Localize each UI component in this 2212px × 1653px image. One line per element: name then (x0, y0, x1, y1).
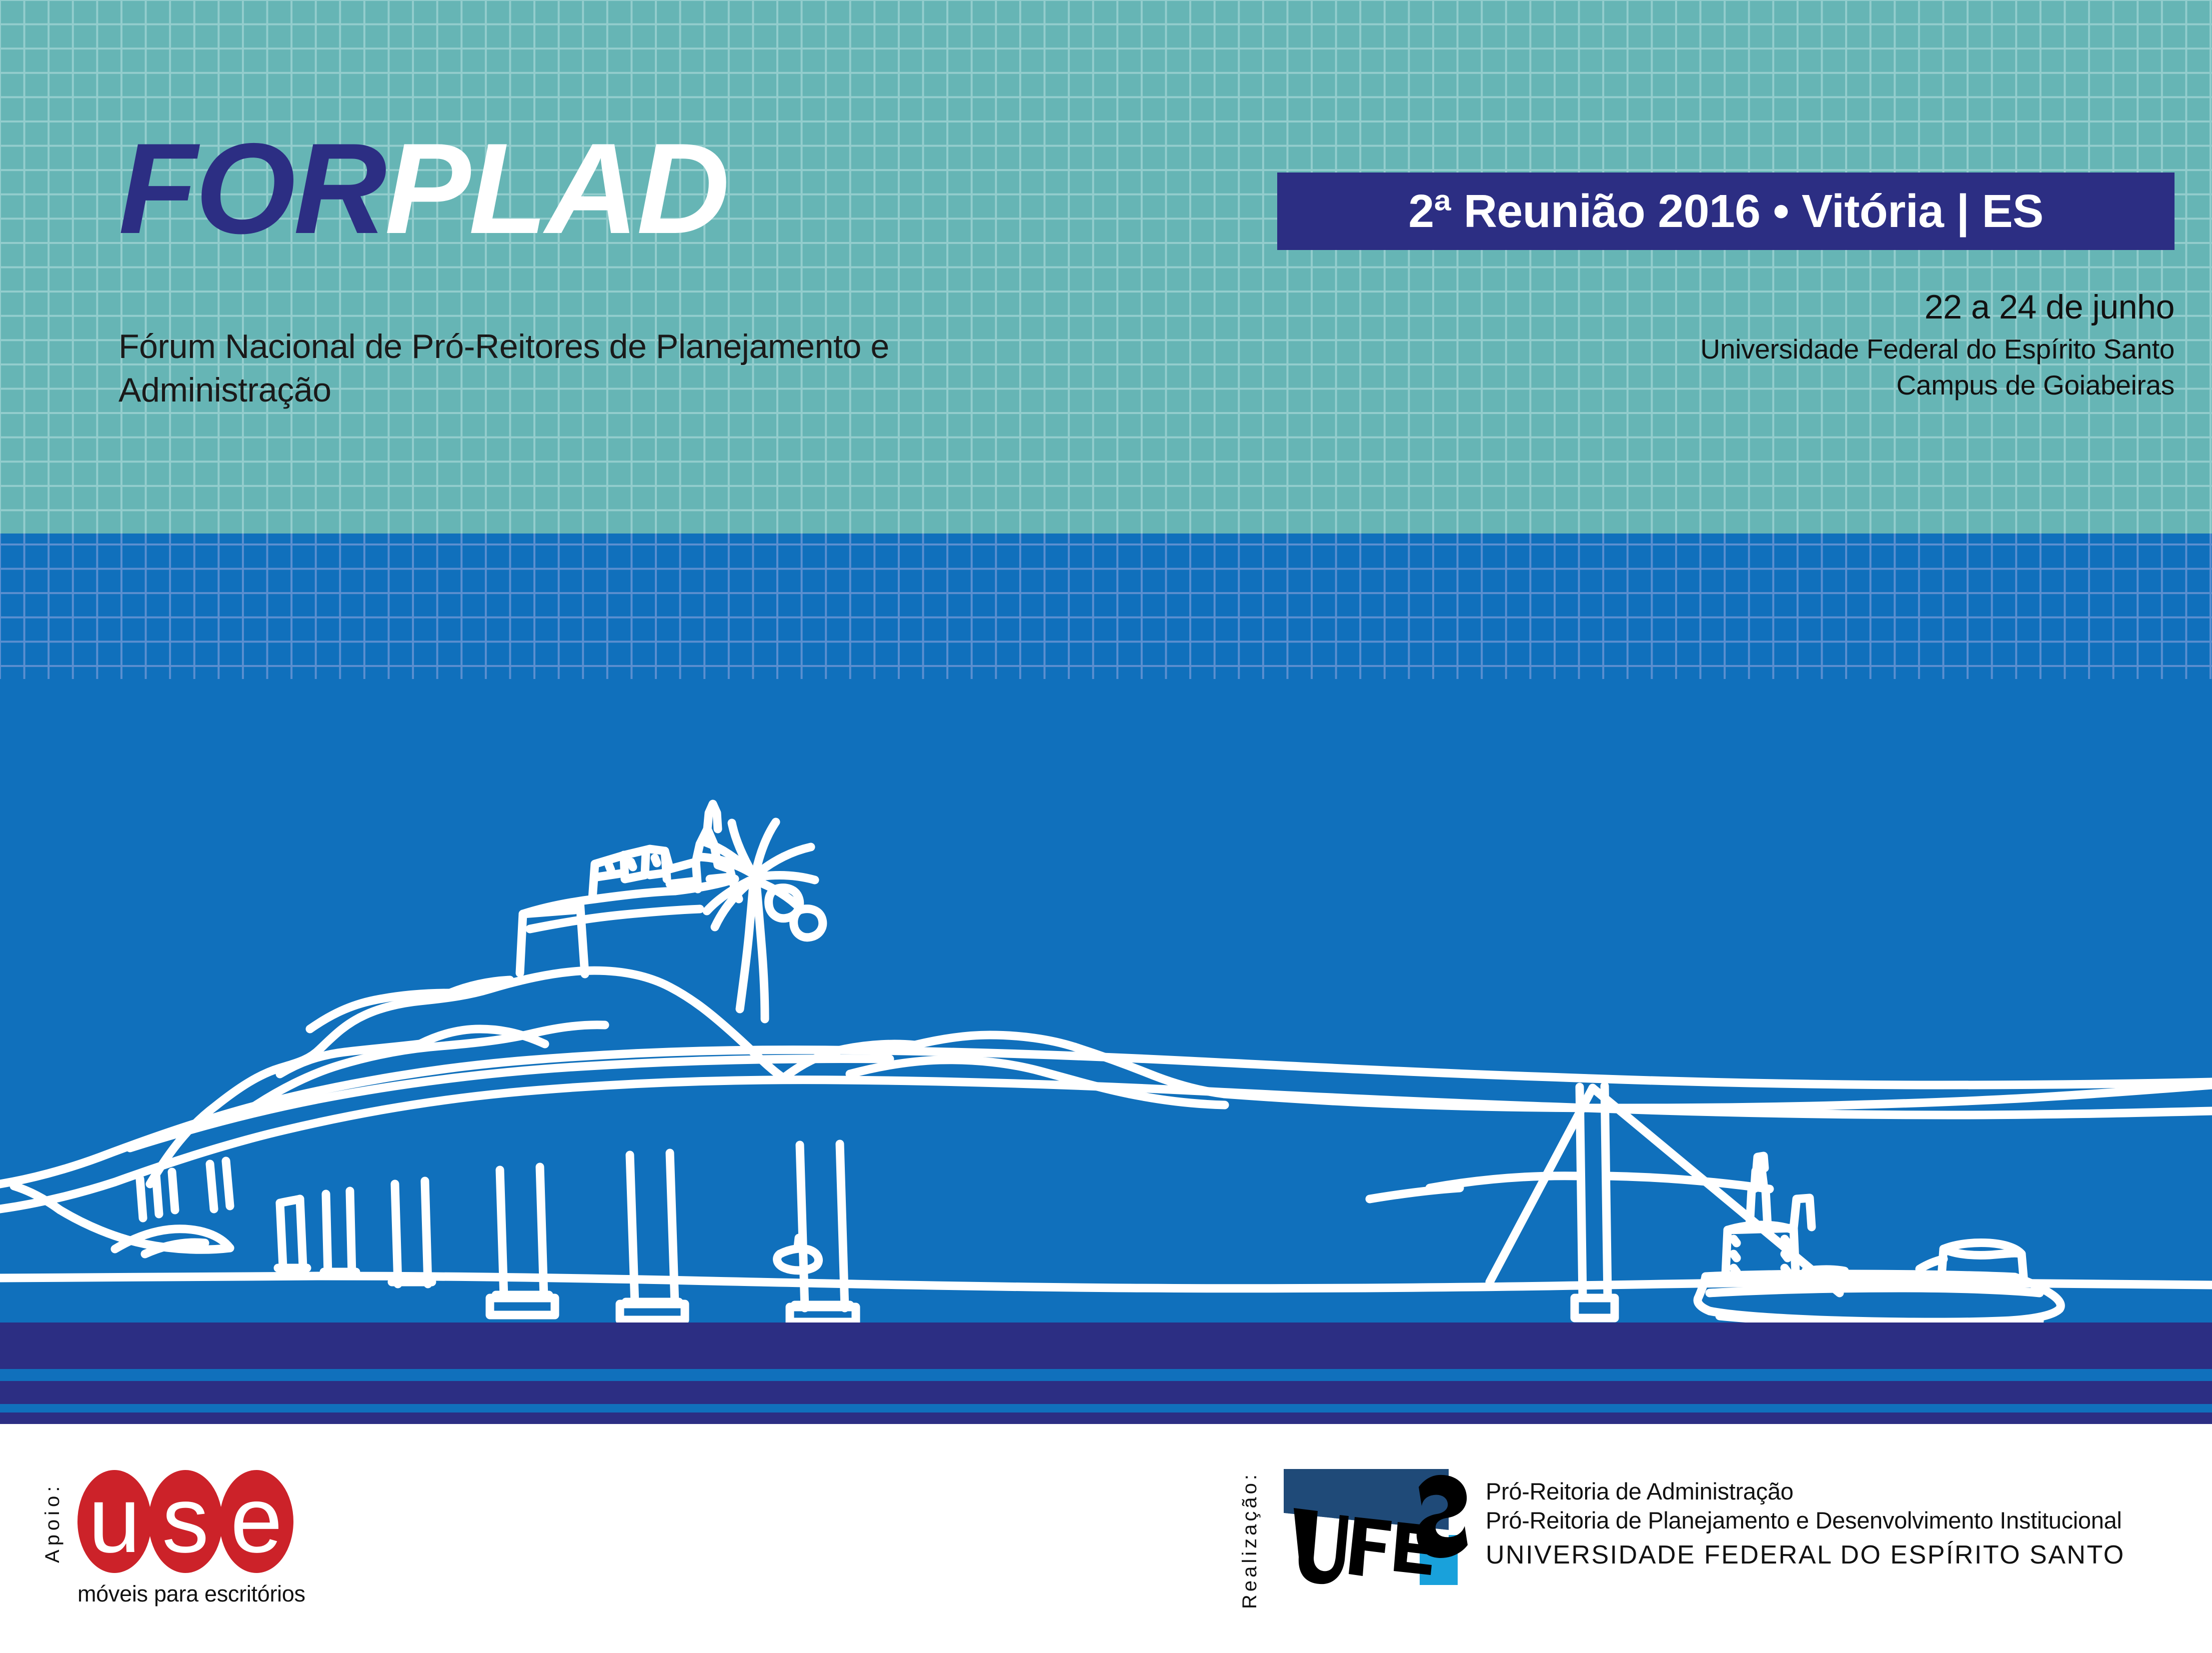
ufes-text-block: Pró-Reitoria de Administração Pró-Reitor… (1486, 1465, 2125, 1574)
poster-canvas: FORPLAD Fórum Nacional de Pró-Reitores d… (0, 0, 2212, 1653)
use-tagline: móveis para escritórios (77, 1581, 305, 1607)
blue-grid-band (0, 533, 2212, 679)
stripe-navy-thick (0, 1322, 2212, 1369)
event-institution: Universidade Federal do Espírito Santo (1150, 331, 2175, 367)
use-logo: u s e móveis para escritórios (77, 1470, 305, 1607)
use-letter-s: s (148, 1470, 222, 1573)
event-details: 22 a 24 de junho Universidade Federal do… (1150, 287, 2175, 403)
illustration-band (0, 679, 2212, 1322)
use-logo-letters: u s e (77, 1470, 305, 1573)
use-letter-u: u (77, 1470, 151, 1573)
sponsor-realizacao-group: Realização: Pró-Reitoria de Administraçã… (1240, 1465, 2125, 1615)
sponsor-apoio-group: Apoio: u s e móveis para escritórios (42, 1470, 305, 1607)
meeting-banner-text: 2ª Reunião 2016 • Vitória | ES (1408, 184, 2043, 238)
realizacao-label: Realização: (1240, 1465, 1260, 1615)
stripe-navy-2 (0, 1381, 2212, 1404)
header-teal-band (0, 0, 2212, 533)
wordmark-plad: PLAD (385, 116, 728, 260)
wordmark-for: FOR (118, 116, 385, 260)
stripe-blue-2 (0, 1404, 2212, 1412)
forplad-wordmark: FORPLAD (118, 129, 728, 247)
ufes-line-planejamento: Pró-Reitoria de Planejamento e Desenvolv… (1486, 1506, 2125, 1535)
forum-subtitle: Fórum Nacional de Pró-Reitores de Planej… (118, 325, 1018, 412)
ufes-line-administracao: Pró-Reitoria de Administração (1486, 1477, 2125, 1506)
use-letter-e: e (219, 1470, 293, 1573)
apoio-label: Apoio: (42, 1470, 62, 1575)
ufes-line-university: UNIVERSIDADE FEDERAL DO ESPÍRITO SANTO (1486, 1535, 2125, 1574)
meeting-banner: 2ª Reunião 2016 • Vitória | ES (1277, 172, 2175, 250)
stripe-navy-3 (0, 1412, 2212, 1424)
ufes-logo-mark (1279, 1465, 1469, 1590)
vitoria-bridge-illustration (0, 679, 2212, 1322)
stripe-blue-1 (0, 1369, 2212, 1381)
event-dates: 22 a 24 de junho (1150, 287, 2175, 326)
event-campus: Campus de Goiabeiras (1150, 367, 2175, 403)
